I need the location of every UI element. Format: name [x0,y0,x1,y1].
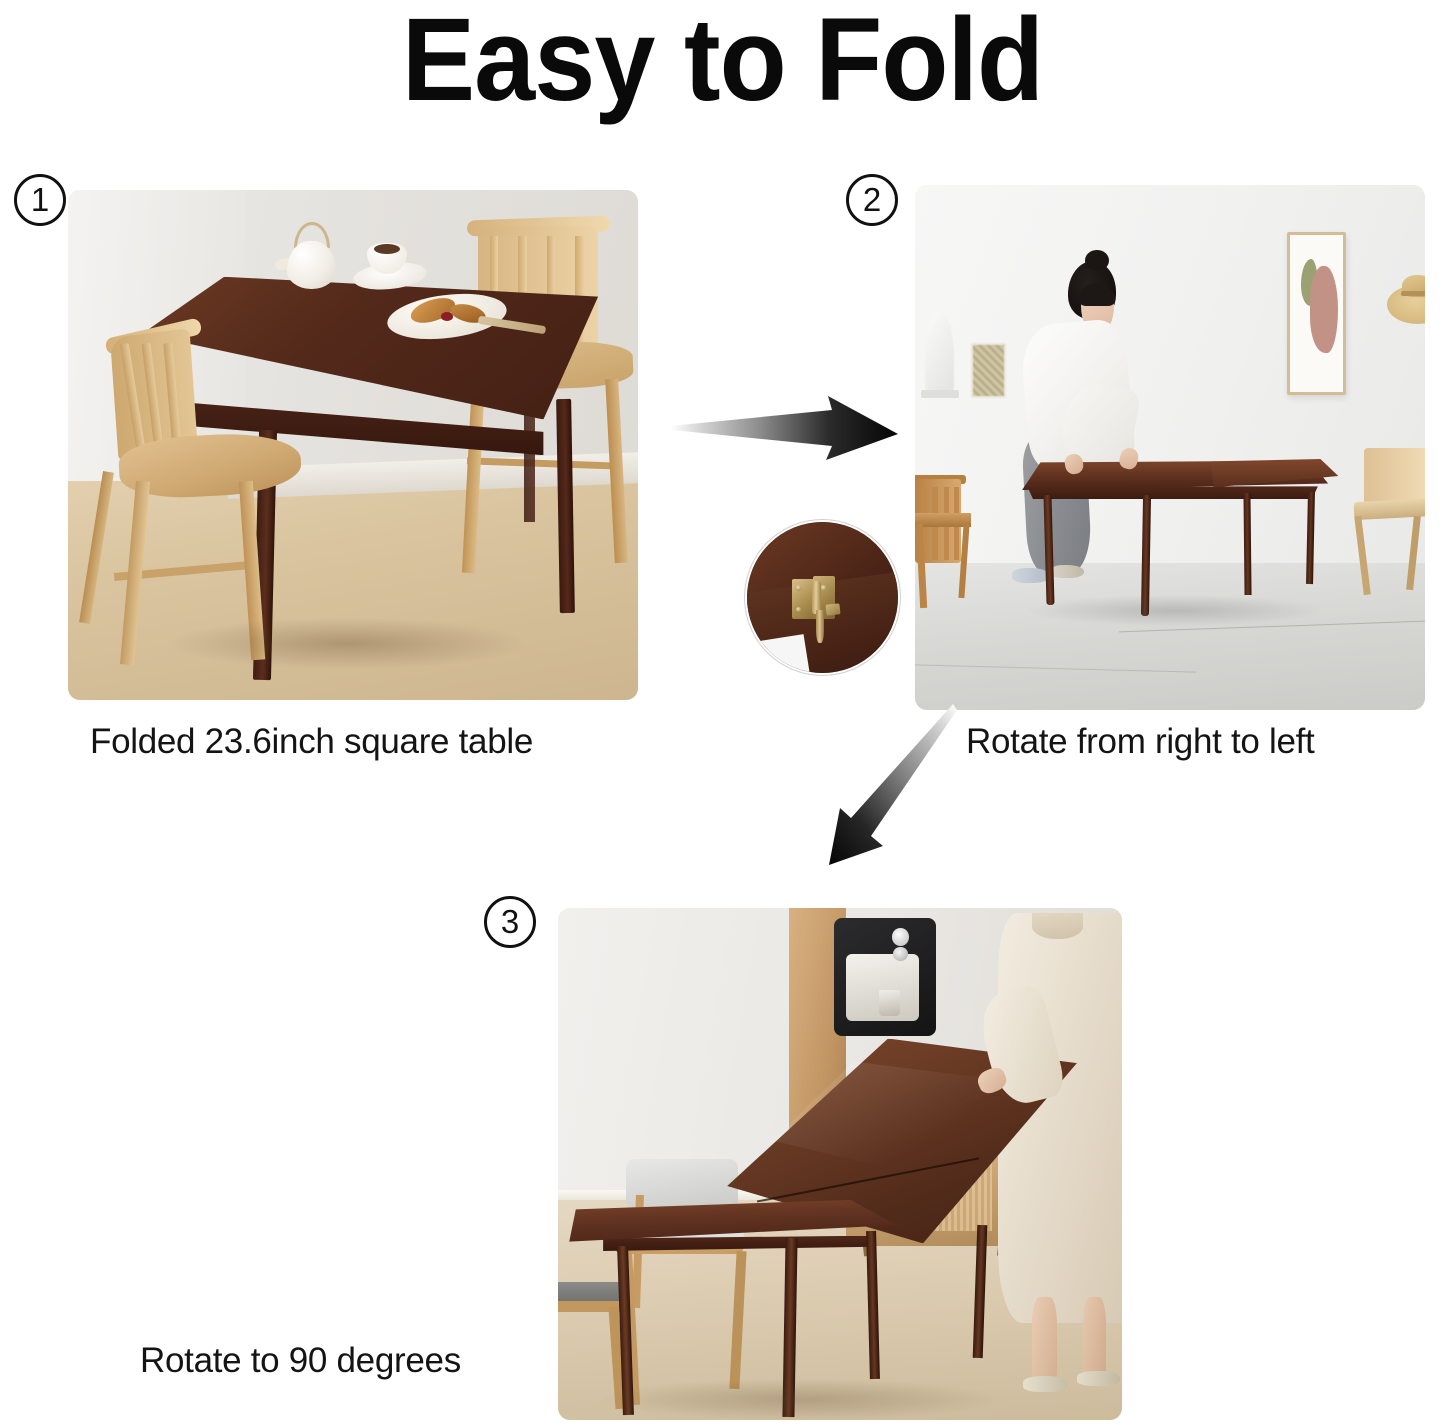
step-badge-3: 3 [484,896,536,948]
kettle [287,241,335,289]
step-badge-1: 1 [14,174,66,226]
straw-hat-band [1401,291,1425,297]
step-caption-3: Rotate to 90 degrees [140,1341,461,1381]
arrow-right-icon [660,390,910,480]
woman-leg [1032,1297,1057,1389]
sculpture [925,311,954,395]
coffee-machine-cup [879,990,899,1016]
step-badge-3-label: 3 [501,905,519,938]
hinge-detail-inset [745,520,900,675]
hinge-pin [816,610,824,643]
coffee-machine-dial [893,947,908,961]
artwork-shape [1310,266,1339,353]
hinge-screw [821,585,826,590]
page-title: Easy to Fold [51,0,1395,126]
sandal [1077,1371,1120,1385]
arrow-down-left-icon [785,700,960,875]
shelf [921,390,959,398]
step-badge-2-label: 2 [863,183,881,216]
floor-shadow [603,1379,998,1420]
step-caption-1: Folded 23.6inch square table [90,722,533,762]
slipper [1050,565,1085,579]
step-badge-1-label: 1 [31,183,49,216]
hinge-screw [796,607,801,612]
step-caption-2: Rotate from right to left [966,722,1314,762]
framed-swatch [971,343,1006,398]
hinge-tab [825,603,840,615]
infographic-root: Easy to Fold [0,0,1445,1425]
photo-folded-table [68,190,638,700]
berry [441,312,454,321]
step-badge-2: 2 [846,174,898,226]
chair-right-back [1364,448,1425,506]
photo-leaf-lifted [558,908,1122,1420]
woman-collar [1032,913,1083,939]
photo-rotating-tabletop [915,185,1425,710]
woman-hair-bun [1085,250,1108,271]
hinge-screw [796,585,801,590]
concrete-floor [915,563,1425,710]
floor-shadow [1027,595,1323,627]
slipper [1012,568,1049,583]
sandal [1023,1376,1068,1391]
floor-shadow [171,618,524,669]
